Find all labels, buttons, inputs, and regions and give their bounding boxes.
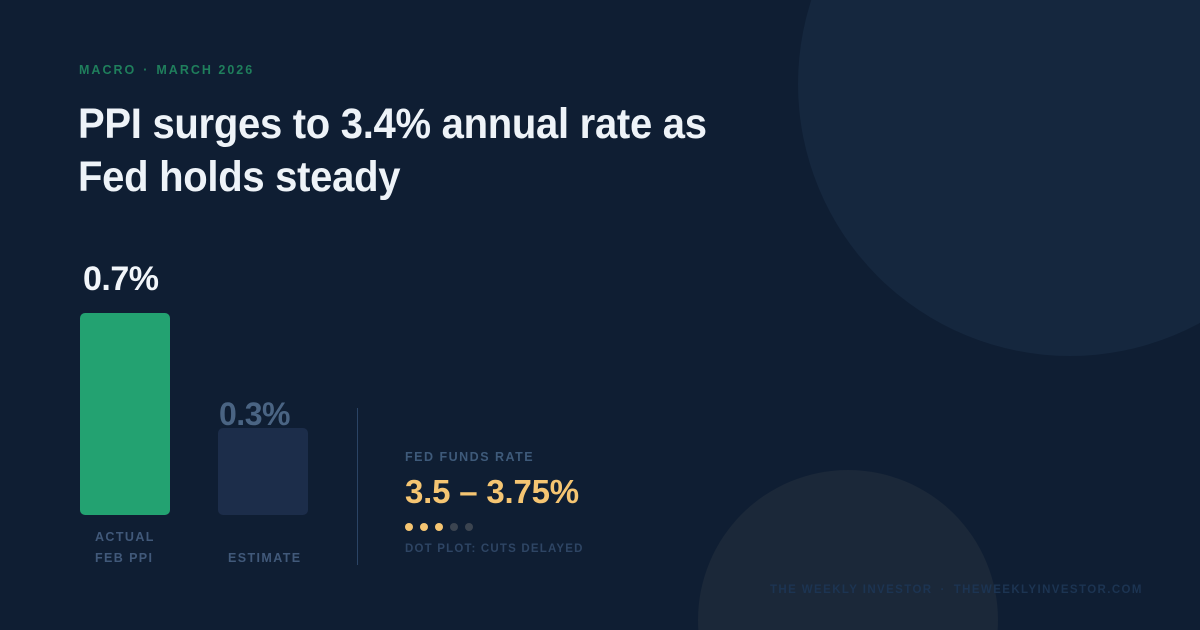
social-card: MACRO·MARCH 2026 PPI surges to 3.4% annu… <box>0 0 1200 630</box>
footer-brand: THE WEEKLY INVESTOR <box>770 584 933 596</box>
bar-label-estimate: ESTIMATE <box>228 551 301 565</box>
dot-plot-dot-2 <box>420 523 428 531</box>
bar-estimate <box>218 428 308 515</box>
decorative-circle-bottom-right <box>698 470 998 630</box>
dot-plot-dot-5 <box>465 523 473 531</box>
vertical-divider <box>357 408 358 565</box>
bar-chart: 0.7% ACTUAL FEB PPI 0.3% ESTIMATE <box>0 0 360 630</box>
footer-watermark: THE WEEKLY INVESTOR·THEWEEKLYINVESTOR.CO… <box>770 584 1143 596</box>
footer-separator: · <box>933 584 954 596</box>
dot-plot-indicator <box>405 523 735 531</box>
bar-label-actual-line1: ACTUAL <box>95 530 155 544</box>
footer-site: THEWEEKLYINVESTOR.COM <box>954 584 1143 596</box>
bar-label-actual-line2: FEB PPI <box>95 551 153 565</box>
dot-plot-dot-3 <box>435 523 443 531</box>
bar-actual <box>80 313 170 515</box>
bar-value-actual: 0.7% <box>83 260 159 299</box>
decorative-circle-top-right <box>798 0 1200 356</box>
fed-funds-panel: FED FUNDS RATE 3.5 – 3.75% DOT PLOT: CUT… <box>405 450 735 555</box>
dot-plot-dot-1 <box>405 523 413 531</box>
dot-plot-caption: DOT PLOT: CUTS DELAYED <box>405 543 735 555</box>
fed-funds-label: FED FUNDS RATE <box>405 450 735 464</box>
fed-funds-value: 3.5 – 3.75% <box>405 473 735 511</box>
dot-plot-dot-4 <box>450 523 458 531</box>
